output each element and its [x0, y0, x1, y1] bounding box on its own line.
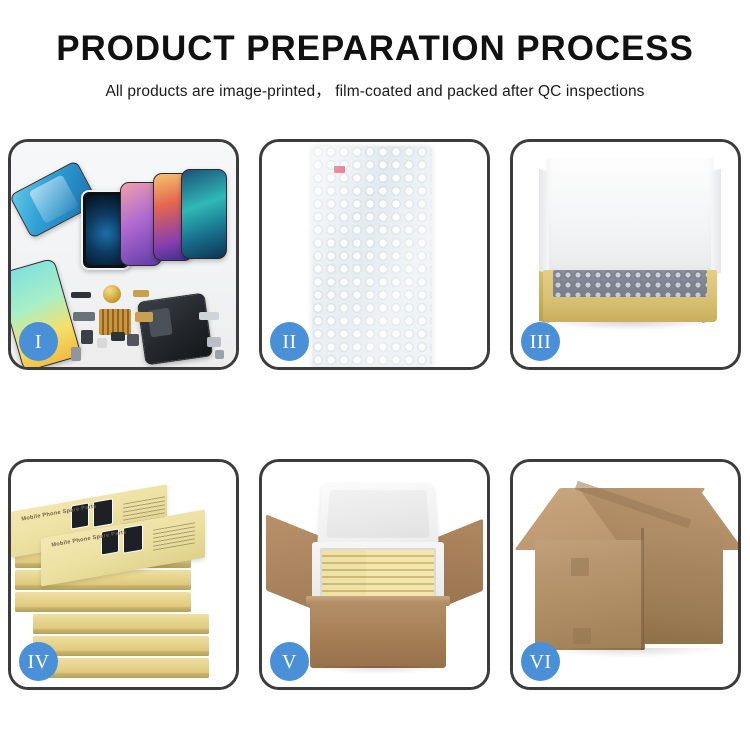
spare-part — [127, 334, 139, 346]
process-step-card-4[interactable]: Mobile Phone Spare Parts Mobile Phone Sp… — [8, 459, 239, 690]
spare-part — [97, 338, 107, 348]
step-badge-1: I — [19, 322, 58, 361]
process-step-card-3[interactable]: III — [510, 139, 741, 370]
step-badge-4: IV — [19, 642, 58, 681]
yellow-box-stack — [366, 550, 434, 598]
page-title: PRODUCT PREPARATION PROCESS — [0, 31, 750, 68]
spare-part — [71, 347, 81, 361]
process-step-card-5[interactable]: V — [259, 459, 490, 690]
process-step-card-1[interactable]: I — [8, 139, 239, 370]
process-step-card-2[interactable]: II — [259, 139, 490, 370]
spare-part — [81, 330, 93, 344]
drop-shadow — [543, 648, 719, 657]
plastic-gloss — [312, 146, 432, 367]
page-subtitle: All products are image-printed， film-coa… — [0, 79, 750, 101]
vibration-motor-part — [103, 285, 121, 303]
drop-shadow — [549, 322, 711, 330]
stacked-box — [33, 636, 209, 656]
product-preparation-infographic: PRODUCT PREPARATION PROCESS All products… — [0, 0, 750, 750]
step-badge-5: V — [270, 642, 309, 681]
step-badge-6: VI — [521, 642, 560, 681]
carton-corner-edge — [641, 528, 644, 650]
stacked-box — [33, 658, 209, 678]
process-step-card-6[interactable]: VI — [510, 459, 741, 690]
spare-part — [215, 350, 224, 359]
bubble-wrapped-contents — [553, 270, 707, 297]
step-badge-3: III — [521, 322, 560, 361]
header: PRODUCT PREPARATION PROCESS All products… — [0, 0, 750, 101]
carton-handle-cutout — [573, 628, 591, 644]
stacked-box — [33, 614, 209, 634]
spare-part — [111, 332, 125, 341]
stacked-box — [15, 592, 191, 612]
spare-part — [73, 312, 95, 321]
foam-case-lid — [317, 483, 439, 546]
drop-shadow — [314, 666, 442, 674]
carton-front-panel — [310, 602, 446, 668]
spare-part — [135, 312, 153, 322]
carton-handle-cutout — [571, 558, 589, 576]
white-box-lid — [546, 158, 714, 278]
spare-part — [71, 292, 91, 298]
carton-side-panel — [643, 528, 723, 644]
teal-phone — [181, 169, 227, 259]
spare-part — [199, 312, 219, 320]
process-step-grid: I II — [8, 139, 742, 690]
spare-part — [207, 337, 221, 347]
spare-part — [133, 290, 149, 297]
step-badge-2: II — [270, 322, 309, 361]
phone-chassis — [137, 293, 213, 366]
